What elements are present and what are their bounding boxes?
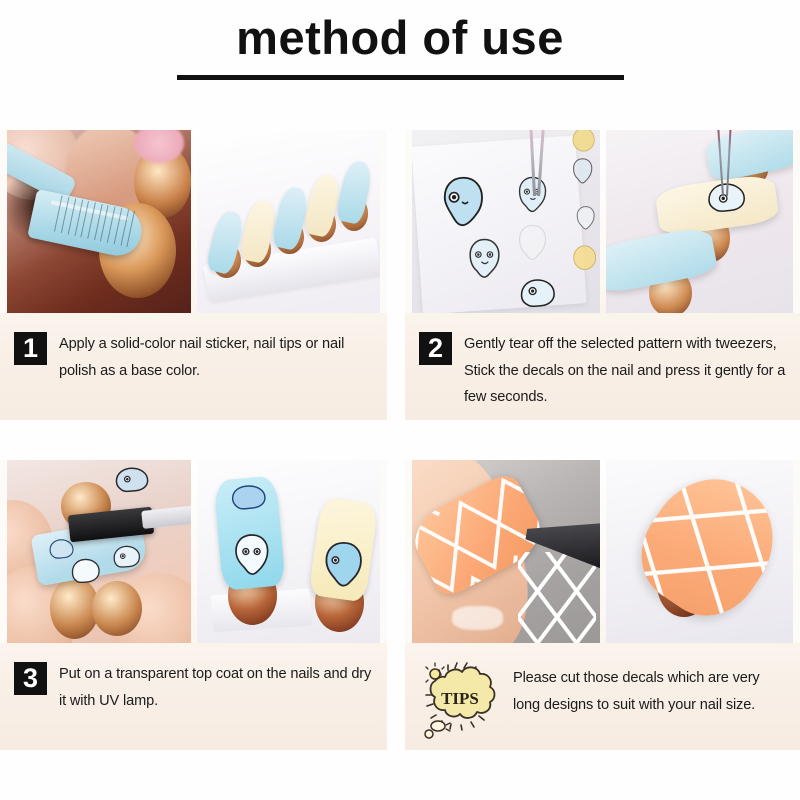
orange-lattice-nail-on-rose-gold-stand-photo (606, 460, 800, 643)
yellow-decal-icon (571, 243, 598, 272)
step-number-badge-1: 1 (14, 332, 47, 365)
ghost-decal-icon (569, 156, 596, 185)
blue-and-cream-nail-tips-on-rose-gold-stands-photo (197, 130, 387, 313)
step-2-photo-right (606, 130, 800, 313)
step-1-photos (0, 130, 387, 313)
step-2-text: Gently tear off the selected pattern wit… (464, 331, 786, 411)
page-title: method of use (0, 14, 800, 61)
placing-decal-on-nail-tip-photo (606, 130, 800, 313)
tips-text: Please cut those decals which are very l… (513, 665, 786, 718)
lattice-decal-strip (518, 552, 596, 640)
tweezers-icon (507, 130, 562, 196)
tips-photo-left (405, 460, 600, 643)
tips-panel: TIPS Please cut those (405, 460, 800, 750)
tweezers-icon (707, 130, 742, 196)
ghost-decal-icon (573, 203, 598, 232)
step-3-photo-left (0, 460, 191, 643)
step-3-text: Put on a transparent top coat on the nai… (59, 661, 373, 714)
ghost-decal-icon (67, 552, 103, 592)
nail-brush-applying-base-color-photo (0, 130, 191, 313)
ghost-decal-icon (516, 273, 559, 313)
step-number-badge-2: 2 (419, 332, 452, 365)
tips-badge-label: TIPS (441, 689, 479, 708)
step-3-photo-right (197, 460, 387, 643)
page-title-block: method of use (0, 14, 800, 80)
tips-photos (405, 460, 800, 643)
steps-grid: 1 Apply a solid-color nail sticker, nail… (0, 130, 800, 755)
step-1-text: Apply a solid-color nail sticker, nail t… (59, 331, 373, 384)
step-3-caption: 3 Put on a transparent top coat on the n… (0, 643, 387, 750)
step-1-photo-left (0, 130, 191, 313)
ghost-decal-icon (438, 174, 489, 229)
step-panel-1: 1 Apply a solid-color nail sticker, nail… (0, 130, 387, 420)
tips-caption: TIPS Please cut those (405, 643, 800, 750)
step-number-badge-3: 3 (14, 662, 47, 695)
tweezers-picking-ghost-decal-from-sheet-photo (405, 130, 600, 313)
black-top-coat-brush-on-blue-nail-photo (0, 460, 191, 643)
step-2-photos (405, 130, 800, 313)
ghost-decal-icon (230, 530, 274, 578)
ghost-decal-icon (464, 236, 505, 280)
title-underline-rule (177, 75, 624, 80)
finished-blue-and-cream-nails-with-ghost-decals-photo (197, 460, 387, 643)
step-3-photos (0, 460, 387, 643)
scissors-cutting-lattice-decal-on-orange-nail-photo (405, 460, 600, 643)
tips-cloud-icon: TIPS (419, 655, 503, 739)
step-2-photo-left (405, 130, 600, 313)
step-panel-3: 3 Put on a transparent top coat on the n… (0, 460, 387, 750)
yellow-decal-icon (569, 130, 598, 154)
step-panel-2: 2 Gently tear off the selected pattern w… (405, 130, 800, 420)
step-1-caption: 1 Apply a solid-color nail sticker, nail… (0, 313, 387, 420)
tips-photo-right (606, 460, 800, 643)
step-1-photo-right (197, 130, 387, 313)
ghost-decal-icon (226, 482, 272, 515)
ghost-decal-icon (514, 222, 551, 262)
step-2-caption: 2 Gently tear off the selected pattern w… (405, 313, 800, 420)
ghost-decal-icon (109, 539, 143, 576)
ghost-decal-icon (111, 464, 153, 497)
method-of-use-infographic: method of use (0, 0, 800, 800)
ghost-decal-icon (319, 537, 368, 588)
lattice-pattern (621, 460, 796, 636)
